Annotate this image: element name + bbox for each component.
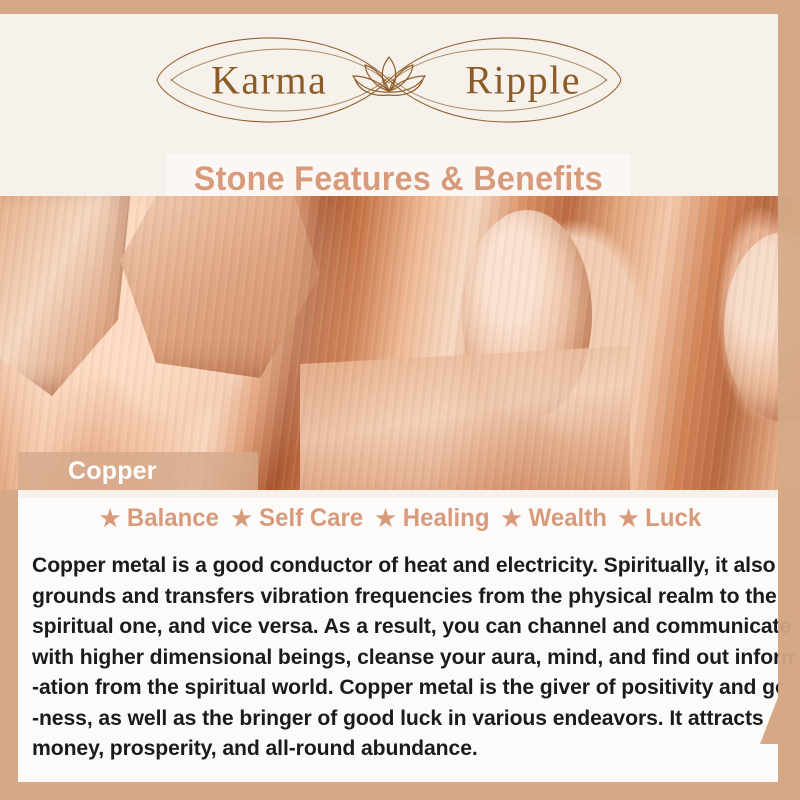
frame-border-top [0, 0, 800, 14]
description-line: grounds and transfers vibration frequenc… [32, 581, 761, 612]
frame-border-right [778, 14, 800, 740]
copper-bars-photo [0, 196, 800, 490]
feature-item-luck: Luck [645, 504, 701, 533]
star-icon: ★ [100, 507, 121, 530]
lotus-flower-icon [353, 57, 425, 95]
frame-border-bottom [18, 782, 800, 800]
photo-caption-band: Copper [18, 452, 258, 490]
page-title: Stone Features & Benefits [193, 160, 602, 199]
description-line: money, prosperity, and all-round abundan… [32, 733, 761, 764]
description-paragraph: Copper metal is a good conductor of heat… [32, 550, 772, 764]
photo-brushed-texture [0, 196, 800, 490]
header-area: Karma Ripple Stone Features & Benefits [0, 14, 778, 196]
star-icon: ★ [618, 507, 639, 530]
star-icon: ★ [375, 507, 396, 530]
description-line: -ness, as well as the bringer of good lu… [32, 703, 761, 734]
description-line: with higher dimensional beings, cleanse … [32, 642, 761, 673]
photo-caption-label: Copper [68, 457, 157, 486]
feature-item-self-care: Self Care [259, 504, 363, 533]
feature-item-wealth: Wealth [528, 504, 606, 533]
card-top-divider [18, 490, 778, 498]
feature-item-balance: Balance [127, 504, 219, 533]
description-line: Copper metal is a good conductor of heat… [32, 550, 761, 581]
features-list: ★ Balance ★ Self Care ★ Healing ★ Wealth… [18, 504, 778, 533]
frame-border-left [0, 490, 18, 800]
product-info-card: Karma Ripple Stone Features & Benefits C… [0, 0, 800, 800]
feature-item-healing: Healing [403, 504, 490, 533]
brand-name-left: Karma [211, 56, 327, 103]
brand-logo: Karma Ripple [0, 32, 778, 127]
description-card: ★ Balance ★ Self Care ★ Healing ★ Wealth… [18, 490, 778, 782]
star-icon: ★ [231, 507, 252, 530]
brand-name-right: Ripple [465, 56, 581, 103]
star-icon: ★ [501, 507, 522, 530]
description-line: -ation from the spiritual world. Copper … [32, 672, 761, 703]
description-line: spiritual one, and vice versa. As a resu… [32, 611, 761, 642]
